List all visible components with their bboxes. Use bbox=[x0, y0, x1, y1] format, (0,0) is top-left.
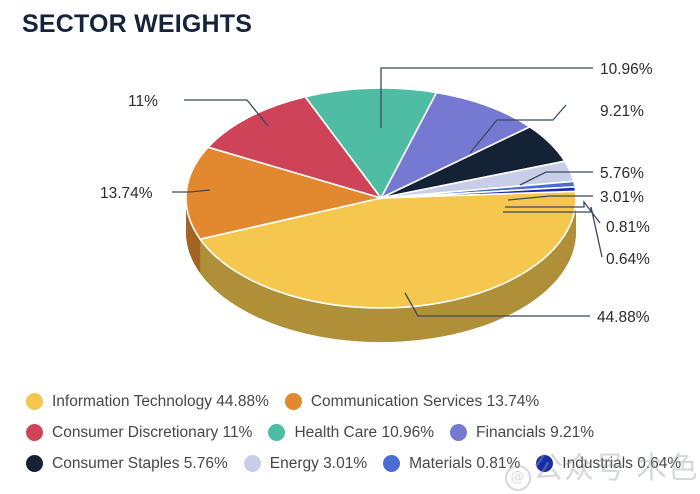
legend-swatch-icon bbox=[26, 455, 43, 472]
legend-swatch-icon bbox=[285, 393, 302, 410]
legend-label: Information Technology 44.88% bbox=[52, 393, 269, 411]
legend-item-financials[interactable]: Financials 9.21% bbox=[450, 424, 594, 442]
callout-value-materials: 0.81% bbox=[606, 219, 650, 236]
legend-item-industrials[interactable]: Industrials 0.64% bbox=[536, 455, 681, 473]
legend-item-communication-services[interactable]: Communication Services 13.74% bbox=[285, 393, 539, 411]
callout-value-energy: 3.01% bbox=[600, 189, 644, 206]
legend-label: Consumer Staples 5.76% bbox=[52, 455, 228, 473]
legend-label: Communication Services 13.74% bbox=[311, 393, 539, 411]
legend-label: Materials 0.81% bbox=[409, 455, 520, 473]
legend-swatch-icon bbox=[383, 455, 400, 472]
legend-item-materials[interactable]: Materials 0.81% bbox=[383, 455, 520, 473]
legend-item-health-care[interactable]: Health Care 10.96% bbox=[268, 424, 434, 442]
callout-value-financials: 9.21% bbox=[600, 103, 644, 120]
legend-swatch-icon bbox=[244, 455, 261, 472]
legend-item-information-technology[interactable]: Information Technology 44.88% bbox=[26, 393, 269, 411]
legend-item-consumer-discretionary[interactable]: Consumer Discretionary 11% bbox=[26, 424, 252, 442]
legend-swatch-icon bbox=[450, 424, 467, 441]
legend-row: Consumer Staples 5.76% Energy 3.01% Mate… bbox=[26, 448, 686, 479]
chart-container: SECTOR WEIGHTS 10.96% bbox=[0, 0, 700, 494]
legend-swatch-icon bbox=[26, 424, 43, 441]
legend-label: Consumer Discretionary 11% bbox=[52, 424, 252, 442]
legend-label: Industrials 0.64% bbox=[562, 455, 681, 473]
legend-row: Consumer Discretionary 11% Health Care 1… bbox=[26, 417, 686, 448]
chart-legend: Information Technology 44.88% Communicat… bbox=[26, 386, 686, 479]
legend-swatch-icon bbox=[26, 393, 43, 410]
callout-value-consumer-staples: 5.76% bbox=[600, 165, 644, 182]
callout-value-health-care: 10.96% bbox=[600, 61, 653, 78]
legend-item-consumer-staples[interactable]: Consumer Staples 5.76% bbox=[26, 455, 228, 473]
legend-item-energy[interactable]: Energy 3.01% bbox=[244, 455, 367, 473]
callout-value-consumer-discretionary: 11% bbox=[128, 93, 158, 110]
callout-value-information-technology: 44.88% bbox=[597, 309, 650, 326]
legend-swatch-icon bbox=[268, 424, 285, 441]
callout-value-communication-services: 13.74% bbox=[100, 185, 153, 202]
legend-row: Information Technology 44.88% Communicat… bbox=[26, 386, 686, 417]
legend-label: Health Care 10.96% bbox=[294, 424, 434, 442]
legend-label: Energy 3.01% bbox=[270, 455, 367, 473]
legend-swatch-icon bbox=[536, 455, 553, 472]
legend-label: Financials 9.21% bbox=[476, 424, 594, 442]
callout-value-industrials: 0.64% bbox=[606, 251, 650, 268]
